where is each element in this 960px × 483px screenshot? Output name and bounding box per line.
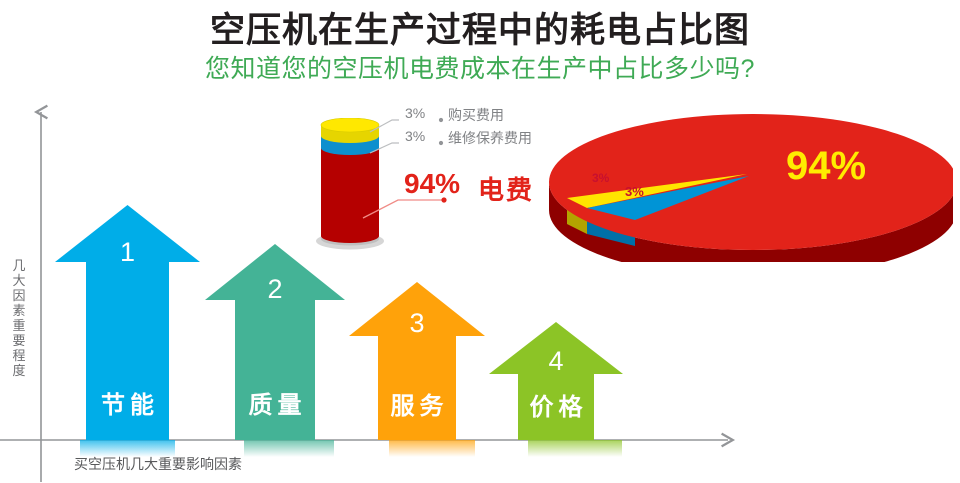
callout-buy-label: 购买费用 <box>448 105 504 125</box>
page-title: 空压机在生产过程中的耗电占比图 <box>0 2 960 53</box>
callout-maintain-pct: 3% <box>405 128 425 144</box>
bar-caption-1: 节能 <box>55 385 205 420</box>
infographic-canvas: 空压机在生产过程中的耗电占比图 您知道您的空压机电费成本在生产中占比多少吗? <box>0 0 960 483</box>
bar-rank-4: 4 <box>489 346 623 377</box>
bar-rank-1: 1 <box>55 237 200 268</box>
bar-rank-2: 2 <box>205 274 345 305</box>
stacked-cylinder-chart <box>310 118 390 250</box>
bar-arrow-3[interactable]: 3 服务 <box>349 282 485 440</box>
cylinder-segment-power <box>321 148 379 243</box>
callout-power-label: 电费 <box>478 170 534 207</box>
arrow-shape-green <box>489 322 623 440</box>
y-axis-label: 几大因素重要程度 <box>8 258 30 378</box>
bar-rank-3: 3 <box>349 308 485 339</box>
pie-chart-3d <box>543 112 953 262</box>
bar-caption-4: 价格 <box>489 387 628 422</box>
x-axis-label: 买空压机几大重要影响因素 <box>74 454 242 474</box>
bar-caption-3: 服务 <box>349 386 490 421</box>
callout-power-pct: 94% <box>404 168 460 200</box>
callout-buy-pct: 3% <box>405 105 425 121</box>
pie-label-buy: 3% <box>592 171 609 185</box>
pie-slice-power <box>549 114 953 250</box>
bar-caption-2: 质量 <box>205 385 350 420</box>
bar-arrow-2[interactable]: 2 质量 <box>205 244 345 440</box>
page-subtitle: 您知道您的空压机电费成本在生产中占比多少吗? <box>0 49 960 85</box>
callout-maintain-label: 维修保养费用 <box>448 128 532 148</box>
bar-arrow-4[interactable]: 4 价格 <box>489 322 623 440</box>
bar-arrow-1[interactable]: 1 节能 <box>55 205 200 440</box>
pie-label-maintain: 3% <box>625 184 644 199</box>
pie-label-power: 94% <box>786 144 866 189</box>
